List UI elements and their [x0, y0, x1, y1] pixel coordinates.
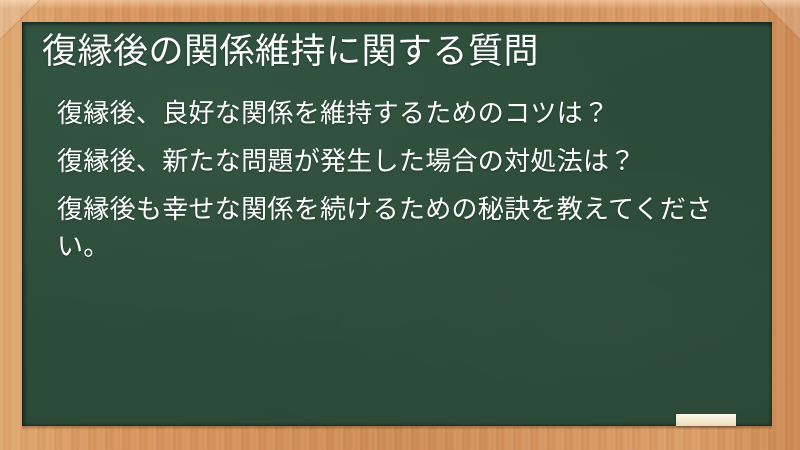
board-ledge-shadow	[22, 426, 772, 430]
question-list: 復縁後、良好な関係を維持するためのコツは？ 復縁後、新たな問題が発生した場合の対…	[32, 95, 748, 265]
board-content: 復縁後の関係維持に関する質問 復縁後、良好な関係を維持するためのコツは？ 復縁後…	[22, 22, 772, 426]
chalkboard-slide: 復縁後の関係維持に関する質問 復縁後、良好な関係を維持するためのコツは？ 復縁後…	[0, 0, 800, 450]
list-item: 復縁後も幸せな関係を続けるための秘訣を教えてください。	[57, 191, 748, 265]
page-title: 復縁後の関係維持に関する質問	[32, 30, 748, 75]
chalk-icon	[676, 414, 736, 426]
chalkboard: 復縁後の関係維持に関する質問 復縁後、良好な関係を維持するためのコツは？ 復縁後…	[22, 22, 772, 426]
frame-top-highlight	[0, 0, 800, 9]
list-item: 復縁後、新たな問題が発生した場合の対処法は？	[57, 143, 748, 180]
list-item: 復縁後、良好な関係を維持するためのコツは？	[57, 95, 748, 132]
